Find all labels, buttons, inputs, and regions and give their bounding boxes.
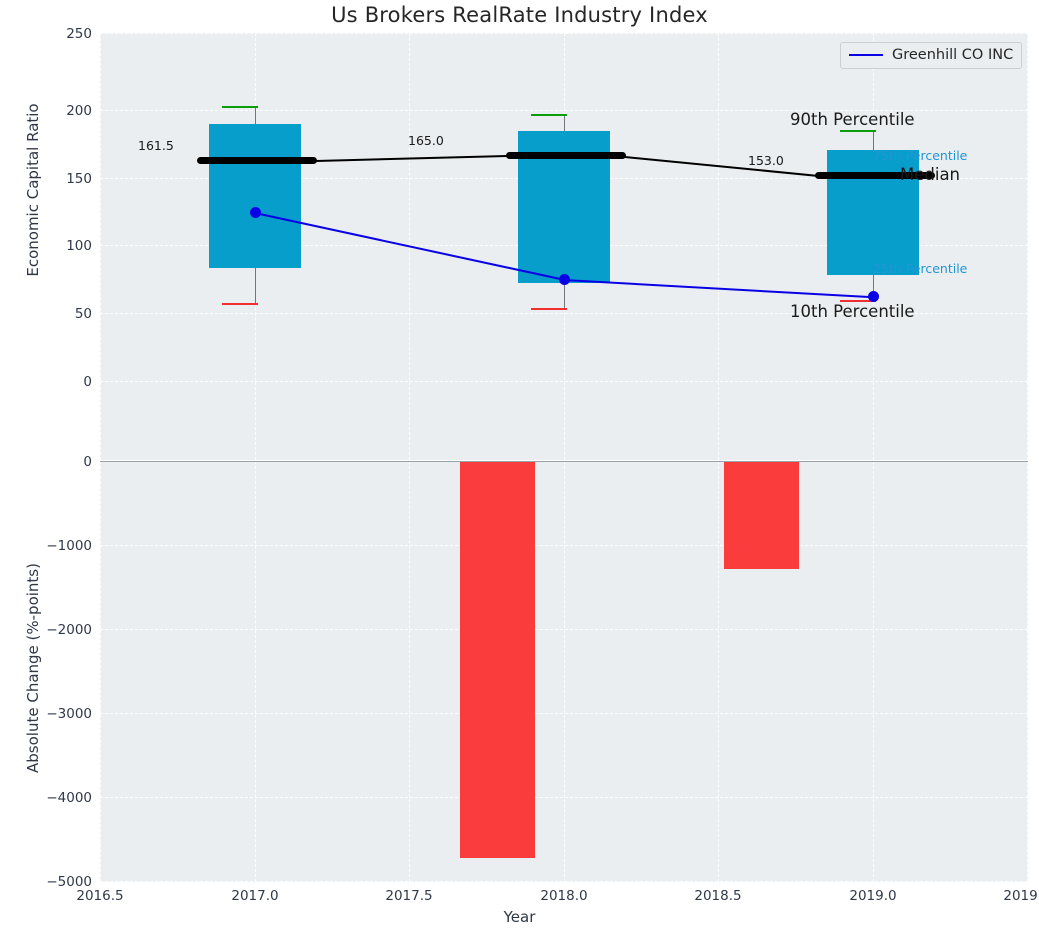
gridline-x-2018_5-top xyxy=(718,33,719,460)
ytick-bot-1000: −1000 xyxy=(4,538,92,554)
ytick-top-200: 200 xyxy=(4,103,92,119)
annotation-median: Median xyxy=(900,165,960,184)
ytick-top-250: 250 xyxy=(4,26,92,42)
zero-baseline xyxy=(100,461,1028,462)
xtick-2019_5: 2019.5 xyxy=(982,888,1039,904)
gridline-x-2017_5-bot xyxy=(409,461,410,882)
median-label-2018: 165.0 xyxy=(408,133,444,148)
company-point-2017 xyxy=(250,207,261,218)
cap-p90-2019 xyxy=(840,130,876,132)
gridline-x-2016_5-bot xyxy=(100,461,101,882)
ytick-top-0: 0 xyxy=(4,374,92,390)
xtick-2017: 2017.0 xyxy=(210,888,300,904)
ytick-bot-4000: −4000 xyxy=(4,790,92,806)
ytick-top-150: 150 xyxy=(4,171,92,187)
cap-p90-2018 xyxy=(531,114,567,116)
box-2017 xyxy=(209,124,301,268)
y-axis-label-bottom: Absolute Change (%-points) xyxy=(24,458,42,878)
median-bar-2018 xyxy=(506,152,626,159)
gridline-x-2018_5-bot xyxy=(718,461,719,882)
gridline-x-2019_5-bot xyxy=(1027,461,1028,882)
median-bar-2017 xyxy=(197,157,317,164)
ytick-bot-2000: −2000 xyxy=(4,622,92,638)
y-axis-label-top: Economic Capital Ratio xyxy=(24,25,42,355)
cap-p90-2017 xyxy=(222,106,258,108)
chart-title: Us Brokers RealRate Industry Index xyxy=(0,3,1039,27)
ytick-top-100: 100 xyxy=(4,238,92,254)
chart-figure: Us Brokers RealRate Industry Index 250 2… xyxy=(0,0,1039,942)
x-axis-label: Year xyxy=(0,908,1039,926)
annotation-90th-percentile: 90th Percentile xyxy=(790,110,915,129)
annotation-25th-percentile: 25th Percentile xyxy=(873,261,967,276)
xtick-2017_5: 2017.5 xyxy=(364,888,454,904)
ytick-top-50: 50 xyxy=(4,306,92,322)
gridline-x-2019_5-top xyxy=(1027,33,1028,460)
gridline-x-2019-bot xyxy=(873,461,874,882)
company-point-2019 xyxy=(868,291,879,302)
median-label-2017: 161.5 xyxy=(138,138,174,153)
legend-label-greenhill: Greenhill CO INC xyxy=(892,47,1013,63)
median-label-2019: 153.0 xyxy=(748,153,784,168)
xtick-2016_5: 2016.5 xyxy=(55,888,145,904)
company-point-2018 xyxy=(559,274,570,285)
annotation-75th-percentile: 75th Percentile xyxy=(873,148,967,163)
gridline-x-2018-bot xyxy=(564,461,565,882)
annotation-10th-percentile: 10th Percentile xyxy=(790,302,915,321)
ytick-bot-0: 0 xyxy=(4,454,92,470)
ytick-bot-3000: −3000 xyxy=(4,706,92,722)
change-bar-2019 xyxy=(724,462,799,569)
legend-line-icon xyxy=(849,54,883,56)
xtick-2018_5: 2018.5 xyxy=(673,888,763,904)
gridline-x-2016_5-top xyxy=(100,33,101,460)
gridline-x-2017-bot xyxy=(255,461,256,882)
cap-p10-2018 xyxy=(531,308,567,310)
xtick-2018: 2018.0 xyxy=(519,888,609,904)
xtick-2019: 2019.0 xyxy=(828,888,918,904)
cap-p10-2017 xyxy=(222,303,258,305)
legend[interactable]: Greenhill CO INC xyxy=(840,42,1022,69)
change-bar-2018 xyxy=(460,462,535,858)
